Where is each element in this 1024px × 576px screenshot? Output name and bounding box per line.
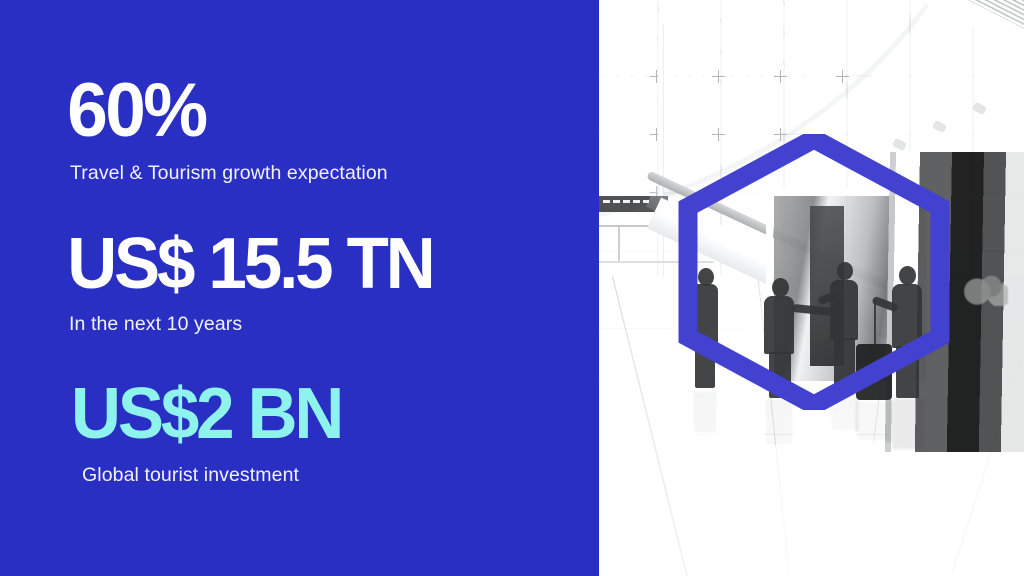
- glass-spider-fitting: [836, 70, 849, 83]
- airport-terminal-photo: [596, 0, 1024, 576]
- stat-label-growth-expectation: Travel & Tourism growth expectation: [0, 162, 596, 185]
- stat-label-market-value: In the next 10 years: [0, 313, 596, 336]
- stat-block-tourist-investment: US$2 BN Global tourist investment: [0, 381, 596, 487]
- stat-block-growth-expectation: 60% Travel & Tourism growth expectation: [0, 76, 596, 185]
- hexagon-outline-overlay: [678, 134, 950, 410]
- stat-value-tourist-investment: US$2 BN: [0, 381, 572, 447]
- glass-spider-fitting: [712, 70, 725, 83]
- slide-root: 60% Travel & Tourism growth expectation …: [0, 0, 1024, 576]
- stat-label-tourist-investment: Global tourist investment: [0, 464, 596, 487]
- panel-seam: [596, 0, 599, 576]
- stat-block-market-value: US$ 15.5 TN In the next 10 years: [0, 231, 596, 336]
- stat-value-market-value: US$ 15.5 TN: [0, 231, 572, 297]
- statistics-panel: 60% Travel & Tourism growth expectation …: [0, 0, 596, 576]
- glass-spider-fitting: [774, 70, 787, 83]
- stat-value-growth-expectation: 60%: [0, 76, 572, 146]
- outdoor-greenery: [964, 270, 1008, 306]
- hexagon-icon: [688, 139, 940, 405]
